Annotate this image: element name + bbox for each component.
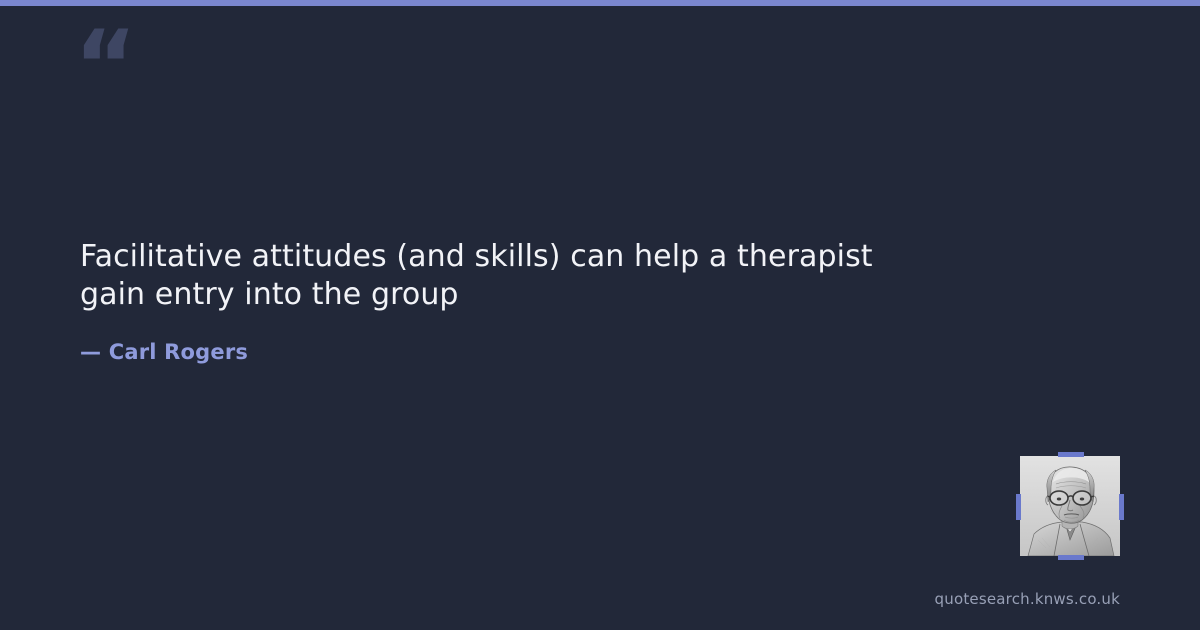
portrait-accent-tick-bottom [1058,555,1084,560]
author-portrait [1020,456,1120,556]
portrait-accent-tick-right [1119,494,1124,520]
portrait-accent-tick-top [1058,452,1084,457]
quote-block: Facilitative attitudes (and skills) can … [80,238,980,364]
quote-card: “ Facilitative attitudes (and skills) ca… [0,6,1200,630]
quote-text: Facilitative attitudes (and skills) can … [80,238,940,314]
portrait-frame [1020,456,1120,556]
open-quote-icon: “ [74,18,135,114]
portrait-sketch-icon [1020,456,1120,556]
source-url: quotesearch.knws.co.uk [935,590,1120,608]
quote-attribution: — Carl Rogers [80,340,980,364]
portrait-accent-tick-left [1016,494,1021,520]
